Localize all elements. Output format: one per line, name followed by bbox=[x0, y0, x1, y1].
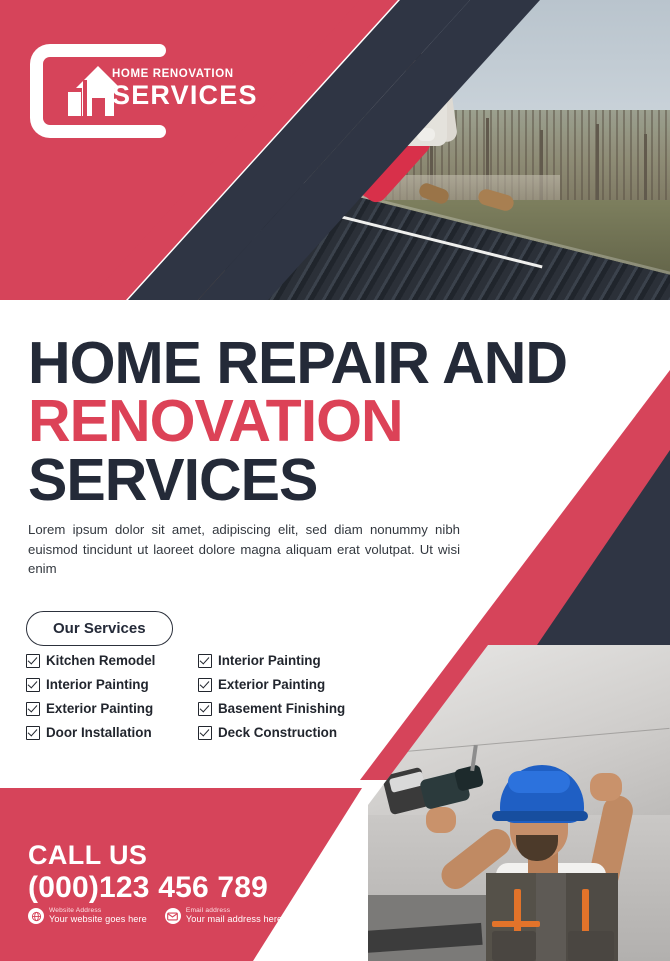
hero-photo-driller bbox=[368, 645, 670, 961]
service-label: Interior Painting bbox=[46, 677, 149, 692]
page-title: HOME REPAIR AND RENOVATION SERVICES bbox=[28, 334, 628, 509]
call-us-label: CALL US bbox=[28, 840, 428, 870]
service-label: Interior Painting bbox=[218, 653, 321, 668]
headline-line-2: RENOVATION bbox=[28, 392, 628, 450]
email-value: Your mail address here bbox=[186, 915, 282, 925]
body-paragraph: Lorem ipsum dolor sit amet, adipiscing e… bbox=[28, 520, 460, 579]
phone-number[interactable]: (000)123 456 789 bbox=[28, 870, 428, 906]
services-list: Kitchen Remodel Interior Painting Interi… bbox=[26, 653, 386, 740]
list-item[interactable]: Kitchen Remodel bbox=[26, 653, 198, 668]
service-label: Exterior Painting bbox=[218, 677, 325, 692]
service-label: Exterior Painting bbox=[46, 701, 153, 716]
flyer-poster: HOME RENOVATION SERVICES bbox=[0, 0, 670, 961]
hard-hat-brim bbox=[492, 811, 588, 821]
website-value: Your website goes here bbox=[49, 915, 147, 925]
list-item[interactable]: Interior Painting bbox=[198, 653, 386, 668]
list-item[interactable]: Interior Painting bbox=[26, 677, 198, 692]
checkbox-checked-icon bbox=[26, 654, 40, 668]
footer-contacts: Website Address Your website goes here E… bbox=[28, 908, 282, 925]
hard-hat-highlight bbox=[508, 771, 570, 793]
service-label: Kitchen Remodel bbox=[46, 653, 155, 668]
checkbox-checked-icon bbox=[198, 654, 212, 668]
headline-line-3: SERVICES bbox=[28, 451, 628, 509]
logo-wordmark: HOME RENOVATION SERVICES bbox=[112, 68, 258, 110]
checkbox-checked-icon bbox=[26, 678, 40, 692]
list-item[interactable]: Exterior Painting bbox=[198, 677, 386, 692]
service-label: Deck Construction bbox=[218, 725, 337, 740]
list-item[interactable]: Door Installation bbox=[26, 725, 198, 740]
contact-email[interactable]: Email address Your mail address here bbox=[165, 908, 282, 925]
checkbox-checked-icon bbox=[26, 702, 40, 716]
contact-website[interactable]: Website Address Your website goes here bbox=[28, 908, 147, 925]
checkbox-checked-icon bbox=[198, 726, 212, 740]
headline-line-1: HOME REPAIR AND bbox=[28, 334, 628, 392]
footer-call-block: CALL US (000)123 456 789 bbox=[28, 840, 428, 906]
worker-fist-left bbox=[426, 807, 456, 833]
list-item[interactable]: Basement Finishing bbox=[198, 701, 386, 716]
checkbox-checked-icon bbox=[198, 702, 212, 716]
globe-icon bbox=[28, 908, 44, 924]
worker-fist-right bbox=[590, 773, 622, 801]
service-label: Basement Finishing bbox=[218, 701, 345, 716]
list-item[interactable]: Exterior Painting bbox=[26, 701, 198, 716]
checkbox-checked-icon bbox=[198, 678, 212, 692]
list-item[interactable]: Deck Construction bbox=[198, 725, 386, 740]
our-services-pill[interactable]: Our Services bbox=[26, 611, 173, 646]
brand-logo[interactable]: HOME RENOVATION SERVICES bbox=[30, 44, 260, 138]
logo-line-2: SERVICES bbox=[112, 81, 258, 110]
service-label: Door Installation bbox=[46, 725, 152, 740]
envelope-icon bbox=[165, 908, 181, 924]
checkbox-checked-icon bbox=[26, 726, 40, 740]
